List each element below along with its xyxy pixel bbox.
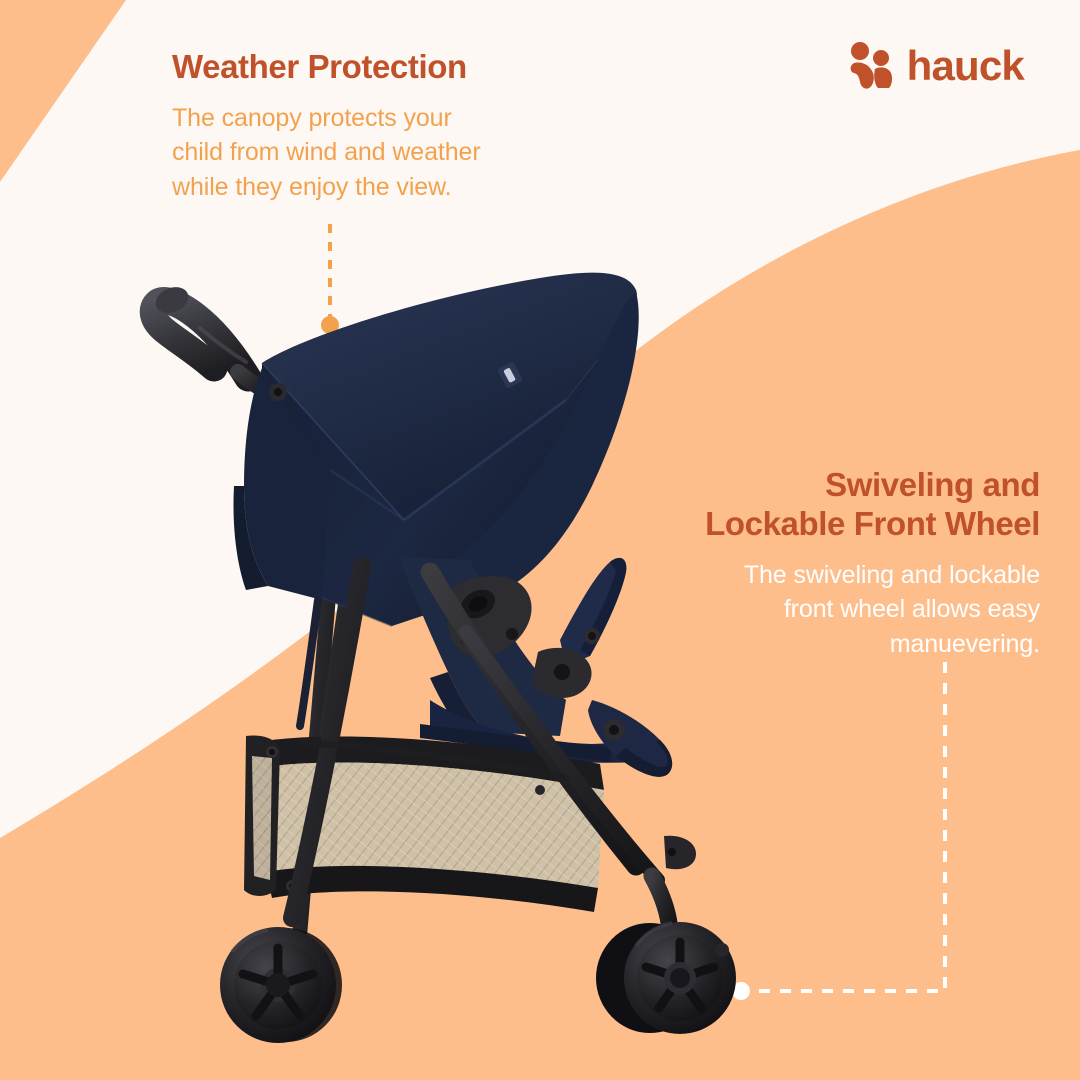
front-wheel	[596, 876, 736, 1034]
handle-bar	[152, 283, 276, 396]
front-wheel-heading: Swiveling and Lockable Front Wheel	[600, 466, 1040, 544]
front-wheel-heading-line-2: Lockable Front Wheel	[705, 505, 1040, 542]
parent-and-child-figure-icon	[846, 41, 898, 91]
brand-wordmark: hauck	[907, 45, 1024, 87]
weather-protection-heading: Weather Protection	[172, 48, 572, 87]
front-wheel-heading-line-1: Swiveling and	[825, 466, 1040, 503]
front-wheel-body-line-1: The swiveling and lockable	[744, 561, 1040, 589]
weather-protection-body-line-2: child from wind and weather	[172, 138, 481, 166]
weather-protection-body-line-3: while they enjoy the view.	[172, 173, 452, 201]
weather-protection-body-line-1: The canopy protects your	[172, 104, 452, 132]
callout-front-wheel: Swiveling and Lockable Front Wheel The s…	[600, 466, 1040, 661]
brand-logo: hauck	[846, 41, 1024, 91]
callout-weather-protection: Weather Protection The canopy protects y…	[172, 48, 572, 204]
weather-protection-body: The canopy protects your child from wind…	[172, 101, 572, 205]
front-wheel-body-line-3: manuevering.	[890, 630, 1040, 658]
infographic-canvas: Weather Protection The canopy protects y…	[0, 0, 1080, 1080]
front-wheel-body-line-2: front wheel allows easy	[784, 595, 1040, 623]
rear-wheel	[220, 927, 342, 1043]
front-wheel-body: The swiveling and lockable front wheel a…	[600, 558, 1040, 662]
